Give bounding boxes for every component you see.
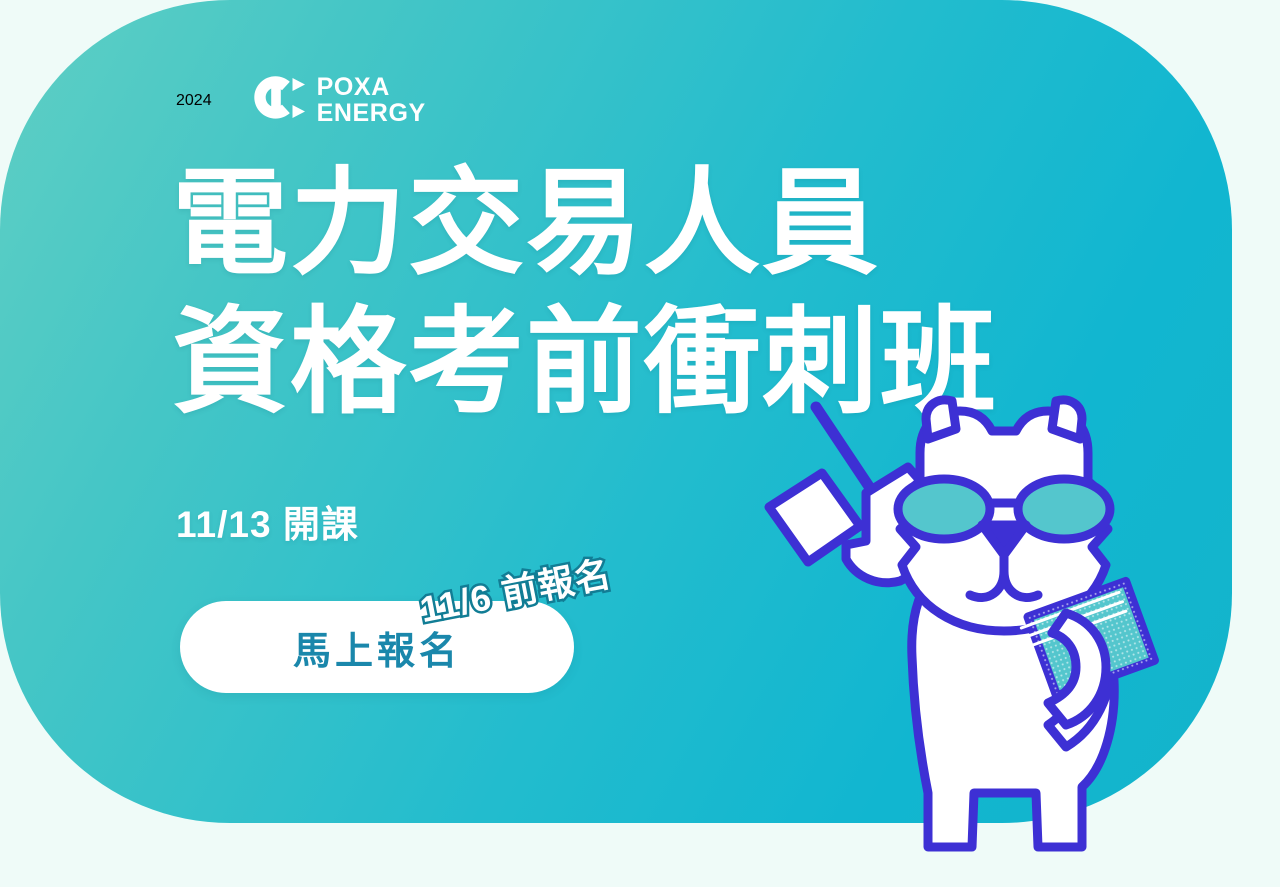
poxa-logo-mark-icon bbox=[252, 74, 306, 127]
brand-line-1: POXA bbox=[317, 75, 426, 101]
banner-header: 2024 POXA ENERGY bbox=[176, 74, 426, 127]
brand-line-2: ENERGY bbox=[317, 101, 426, 127]
headline-line-1: 電力交易人員 bbox=[172, 154, 1132, 293]
course-start-date: 11/13 開課 bbox=[176, 494, 359, 548]
brand-lockup: POXA ENERGY bbox=[252, 74, 426, 127]
brand-wordmark: POXA ENERGY bbox=[317, 75, 426, 126]
year-label: 2024 bbox=[176, 92, 212, 110]
page-title: 電力交易人員 資格考前衝刺班 bbox=[172, 154, 1132, 432]
promo-banner: 2024 POXA ENERGY 電力交易人員 資格考前衝刺班 11/13 開課… bbox=[0, 0, 1280, 887]
polar-bear-mascot bbox=[760, 395, 1190, 865]
